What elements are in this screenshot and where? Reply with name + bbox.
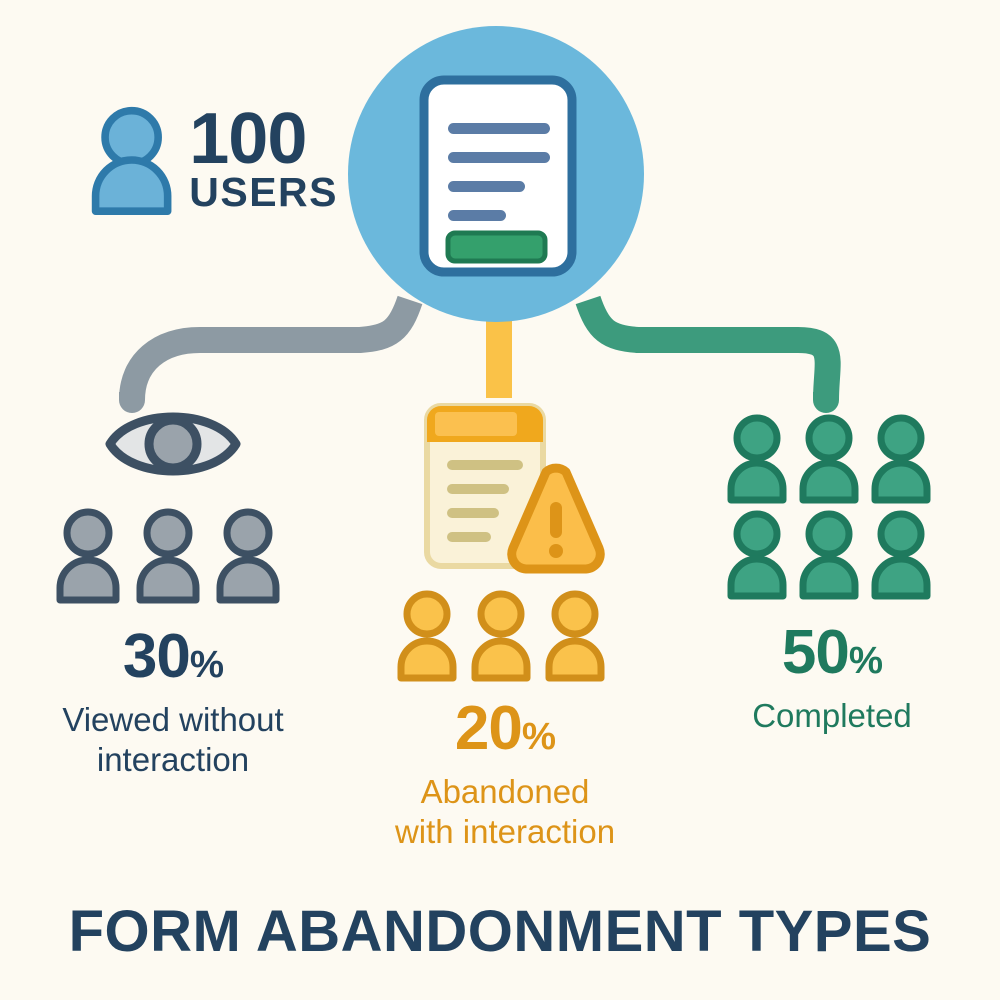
users-total-badge: 100 USERS xyxy=(88,104,338,222)
infographic-canvas: 100 USERS xyxy=(0,0,1000,1000)
right-caption-line1: Completed xyxy=(752,696,912,736)
branch-completed: 50% Completed xyxy=(672,398,992,736)
mid-caption: Abandoned with interaction xyxy=(395,772,615,853)
partial-form-line-2 xyxy=(447,484,509,494)
people-group-icon xyxy=(48,508,298,604)
left-percent-symbol: % xyxy=(190,643,223,686)
mid-caption-line1: Abandoned xyxy=(395,772,615,812)
right-percent-value: 50 xyxy=(782,618,849,687)
partial-form-line-3 xyxy=(447,508,499,518)
partial-form-line-4 xyxy=(447,532,491,542)
user-icon xyxy=(88,104,175,216)
right-percent-symbol: % xyxy=(849,639,882,682)
left-percent-value: 30 xyxy=(123,622,190,691)
partial-form-line-1 xyxy=(447,460,523,470)
users-label: USERS xyxy=(189,174,338,212)
people-group-icon xyxy=(389,590,621,682)
mid-percent-symbol: % xyxy=(522,715,555,758)
right-percent: 50% xyxy=(782,622,882,684)
branch-abandoned-with-interaction: 20% Abandoned with interaction xyxy=(340,398,670,853)
mid-caption-line2: with interaction xyxy=(395,812,615,852)
form-header-field xyxy=(435,412,517,436)
form-line-2 xyxy=(448,152,550,163)
eye-icon xyxy=(102,398,244,490)
users-count: 100 xyxy=(189,106,338,172)
mid-percent-value: 20 xyxy=(455,694,522,763)
page-title: FORM ABANDONMENT TYPES xyxy=(0,898,1000,965)
left-percent: 30% xyxy=(123,626,223,688)
left-caption-line1: Viewed without xyxy=(62,700,283,740)
left-caption-line2: interaction xyxy=(62,740,283,780)
form-line-4 xyxy=(448,210,506,221)
form-submit-button xyxy=(448,233,545,261)
right-caption: Completed xyxy=(752,696,912,736)
form-warning-icon xyxy=(405,398,605,580)
form-line-3 xyxy=(448,181,525,192)
left-caption: Viewed without interaction xyxy=(62,700,283,781)
form-line-1 xyxy=(448,123,550,134)
form-document-icon xyxy=(348,26,644,322)
people-group-icon xyxy=(721,414,943,600)
branch-viewed-without-interaction: 30% Viewed without interaction xyxy=(8,398,338,781)
mid-percent: 20% xyxy=(455,698,555,760)
